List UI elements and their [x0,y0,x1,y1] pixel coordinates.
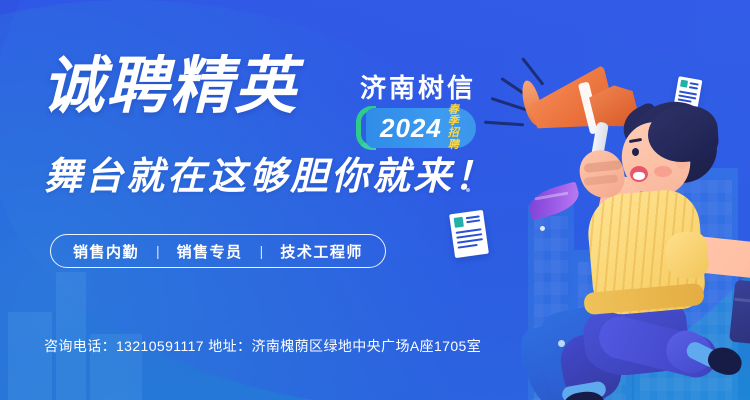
badge-season-line2: 招聘 [448,128,462,151]
recruitment-banner: 诚聘精英 济南树信 2024 春季 招聘 舞台就在这够胆你就来！ 销售内勤 | … [0,0,750,400]
contact-info: 咨询电话：13210591117 地址：济南槐荫区绿地中央广场A座1705室 [44,336,481,356]
cheek-blush [654,166,672,177]
resume-photo-placeholder [454,217,464,228]
resume-text-line [458,244,478,248]
character-illustration [480,26,750,400]
positions-pill: 销售内勤 | 销售专员 | 技术工程师 [50,234,386,268]
briefcase-icon [729,280,750,351]
mouth-inner [633,172,645,180]
position-item-3[interactable]: 技术工程师 [280,241,363,262]
badge-box: 2024 春季 招聘 [366,108,476,148]
resume-text-line [466,215,480,218]
decorative-dot [466,188,470,192]
position-item-1[interactable]: 销售内勤 [73,241,139,262]
resume-text-line [456,228,482,233]
position-item-2[interactable]: 销售专员 [177,241,243,262]
sleeve [664,231,709,280]
badge-season-line1: 春季 [448,105,462,128]
sound-line [484,121,524,126]
company-name: 济南树信 [360,68,476,105]
page-title: 诚聘精英 [42,56,298,118]
left-building-silhouettes [0,250,190,400]
position-separator: | [260,243,264,259]
position-separator: | [156,243,160,259]
badge-season: 春季 招聘 [448,105,462,151]
badge-year: 2024 [380,115,442,141]
subtitle: 舞台就在这够胆你就来！ [44,158,495,196]
resume-text-line [466,219,480,222]
resume-text-line [456,233,482,238]
building-shape [8,312,52,400]
eye [632,148,639,156]
